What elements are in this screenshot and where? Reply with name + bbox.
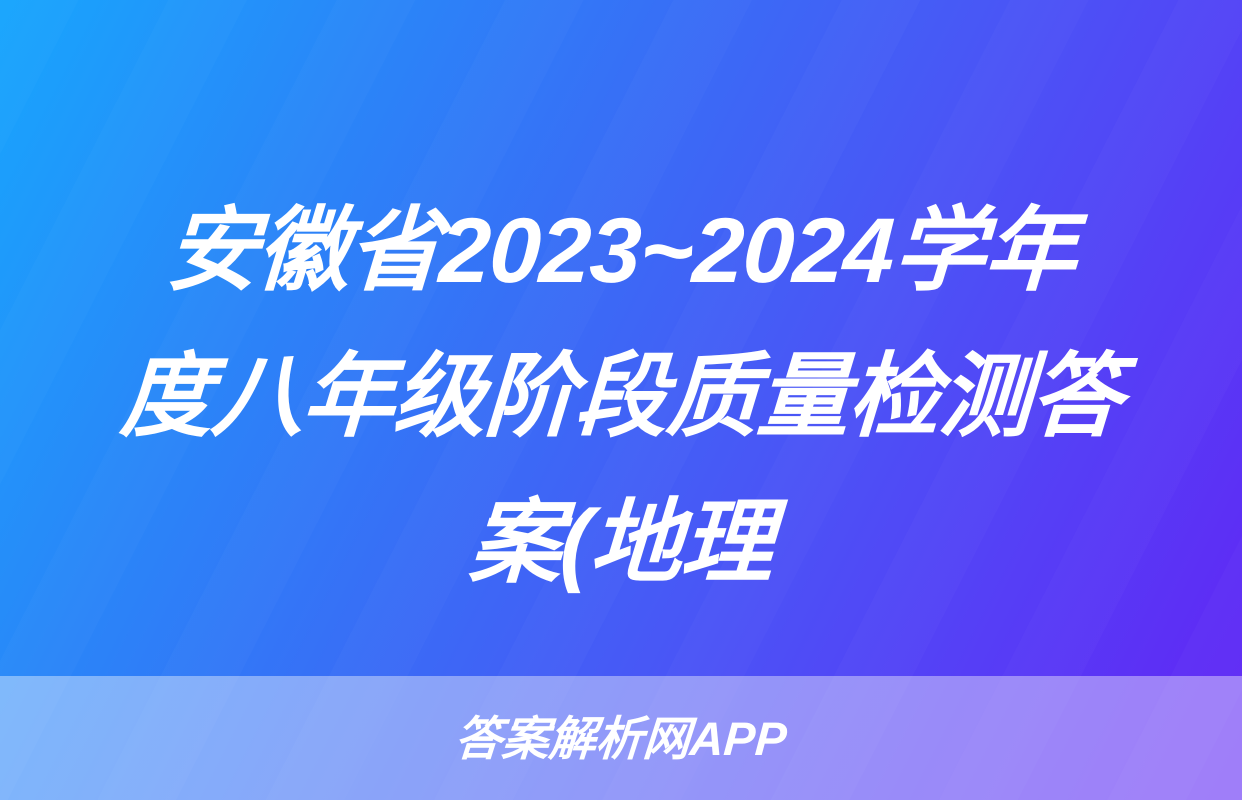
- answer-thumbnail-card: 安徽省2023~2024学年 度八年级阶段质量检测答 案(地理 答案解析网APP: [0, 0, 1242, 800]
- watermark-label: 答案解析网APP: [454, 715, 789, 762]
- title-line-3: 案(地理: [42, 470, 1200, 616]
- title-line-1: 安徽省2023~2024学年: [42, 178, 1200, 324]
- page-title: 安徽省2023~2024学年 度八年级阶段质量检测答 案(地理: [0, 178, 1242, 616]
- title-line-2: 度八年级阶段质量检测答: [42, 324, 1200, 470]
- footer-watermark-band: 答案解析网APP: [0, 676, 1242, 800]
